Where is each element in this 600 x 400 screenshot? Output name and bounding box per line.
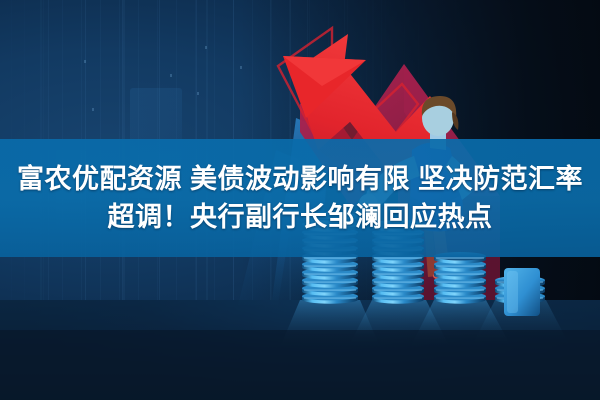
headline-line-1: 富农优配资源 美债波动影响有限 坚决防范汇率 (17, 160, 583, 198)
banknote-block (504, 268, 540, 316)
headline-line-2: 超调！央行副行长邹澜回应热点 (108, 198, 493, 236)
headline-band: 富农优配资源 美债波动影响有限 坚决防范汇率 超调！央行副行长邹澜回应热点 (0, 139, 600, 257)
coin-stack (434, 252, 486, 304)
news-thumbnail-image: 富农优配资源 美债波动影响有限 坚决防范汇率 超调！央行副行长邹澜回应热点 (0, 0, 600, 400)
